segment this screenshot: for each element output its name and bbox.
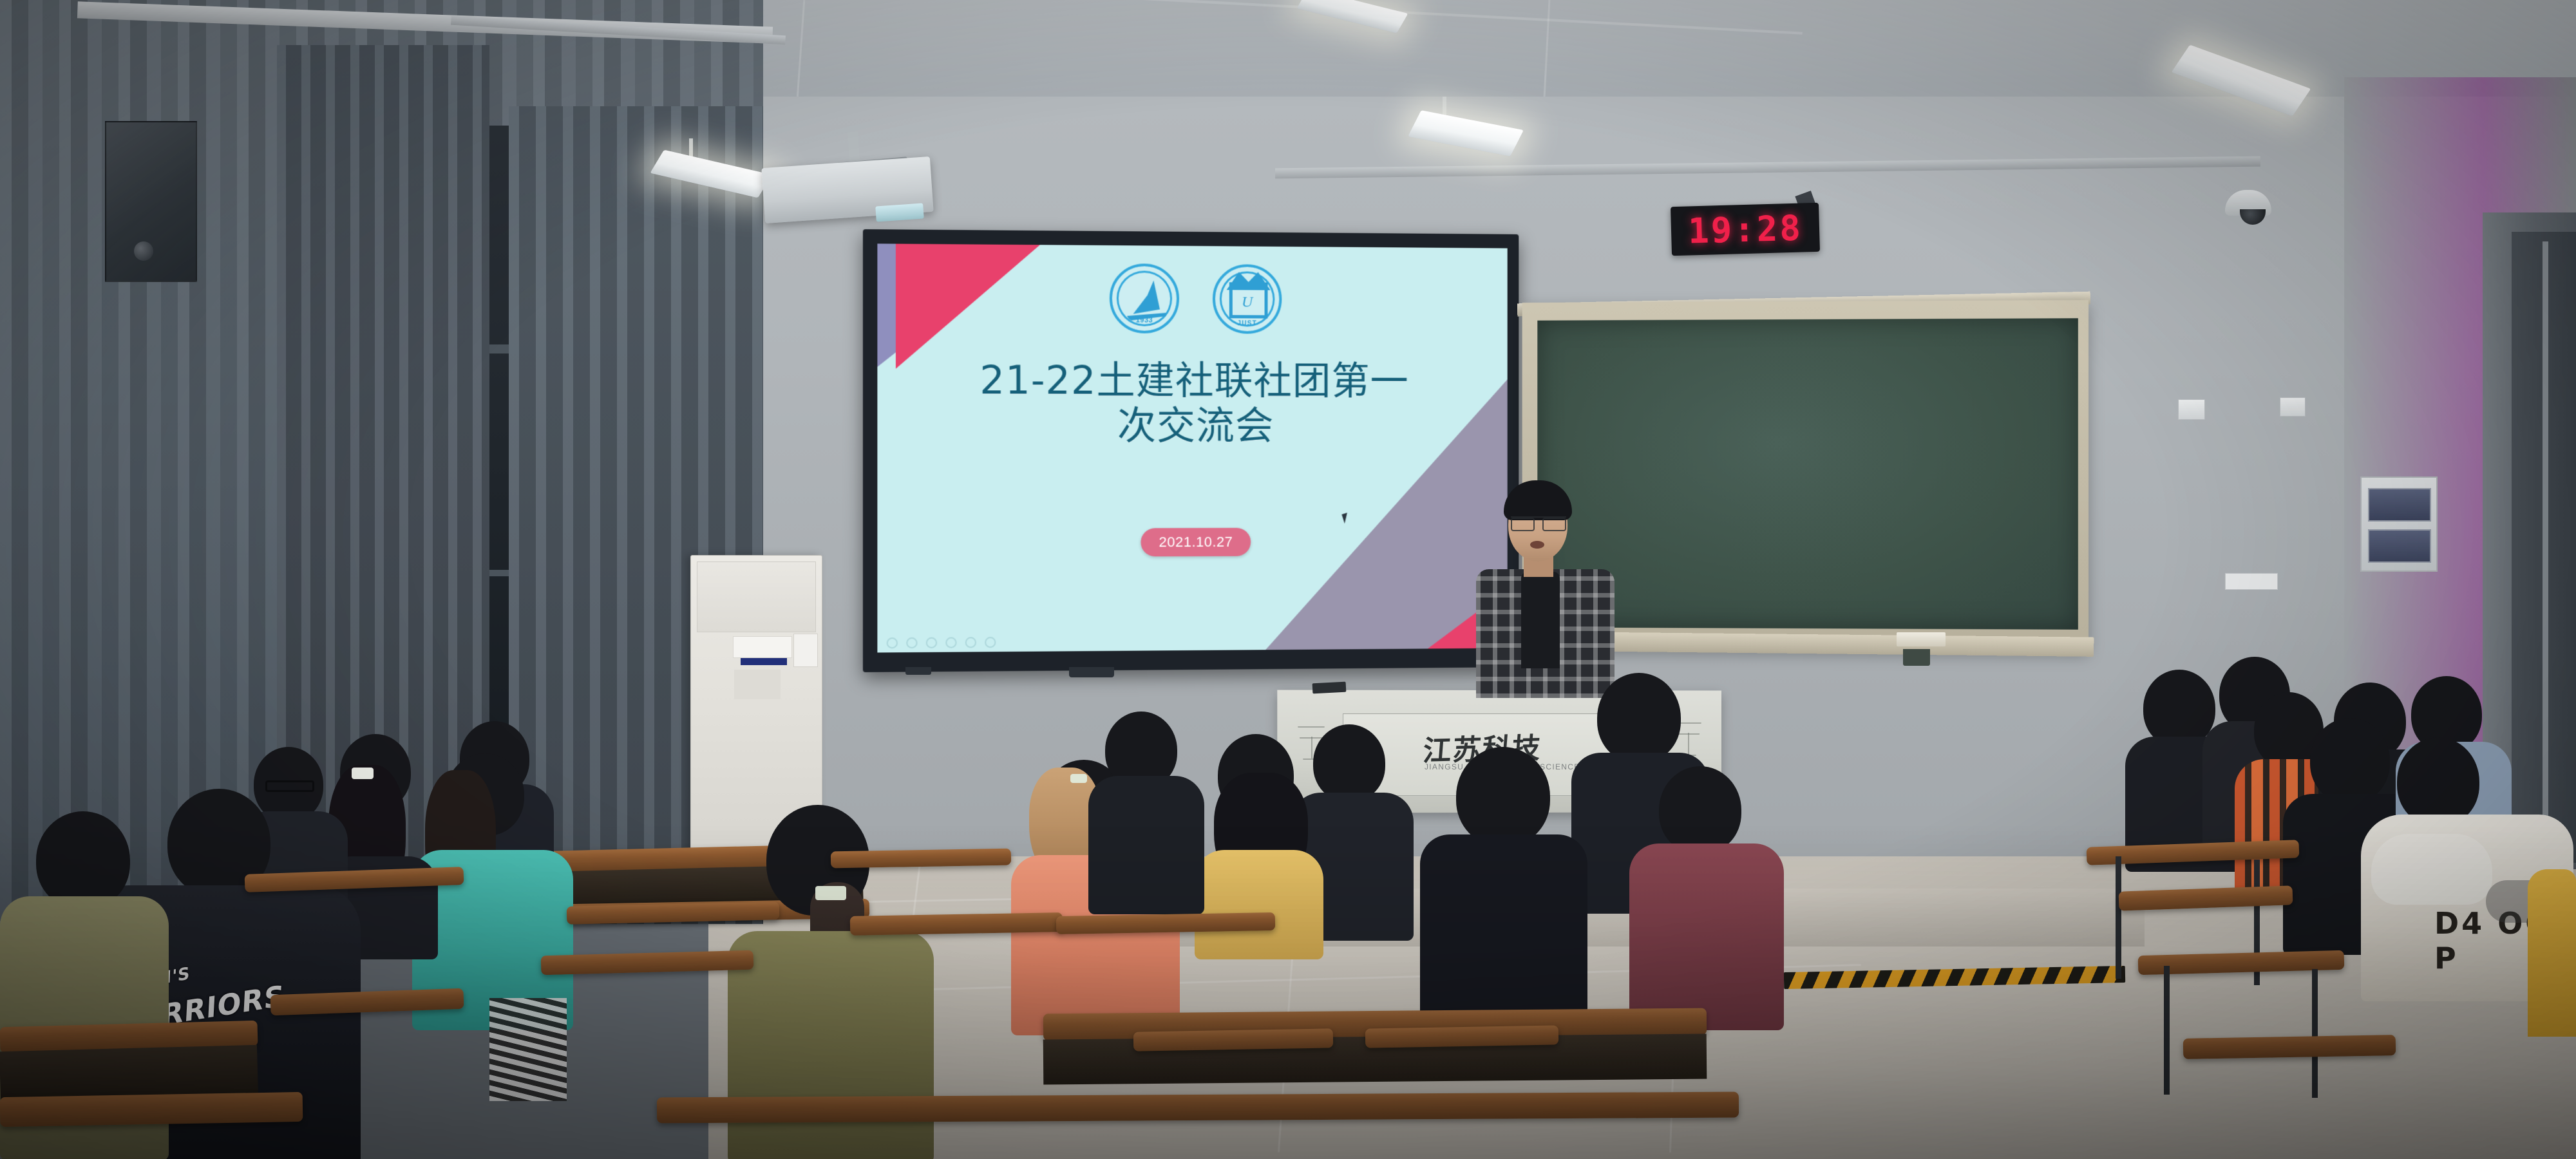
screen-mount-bracket — [1069, 667, 1114, 677]
presentation-controls[interactable] — [887, 637, 996, 648]
clock-time-display: 19:28 — [1687, 207, 1803, 251]
presenter-tshirt — [1521, 572, 1560, 668]
blackboard-clip — [1903, 649, 1930, 666]
wall-clock: 19:28 — [1671, 203, 1820, 256]
desk-seatback — [1133, 1028, 1333, 1051]
presenter-hair — [1504, 480, 1572, 520]
wall-speaker-icon — [105, 121, 197, 282]
light-switch[interactable] — [2280, 397, 2306, 417]
slide-surface: 1933 U ·JUST· 21-22土建社联社团第一 次交流会 2021.10… — [877, 243, 1507, 652]
slide-date-badge: 2021.10.27 — [1141, 528, 1251, 557]
more-options-icon[interactable] — [985, 637, 996, 648]
glasses-icon — [1511, 516, 1566, 527]
panel-slot-upper — [2368, 488, 2431, 522]
desk-center-mid — [850, 912, 1063, 936]
air-conditioner-badge — [741, 658, 787, 665]
presenter-mouth — [1530, 541, 1544, 549]
projection-screen[interactable]: 1933 U ·JUST· 21-22土建社联社团第一 次交流会 2021.10… — [863, 229, 1519, 672]
emblem-year: 1933 — [1112, 316, 1177, 324]
student-mid-maroon — [1629, 766, 1784, 1024]
air-conditioner-label — [733, 636, 792, 658]
menu-icon[interactable] — [945, 637, 956, 648]
blackboard-eraser[interactable] — [1897, 632, 1946, 646]
student-center-darkglasses — [1088, 711, 1204, 905]
emblem-abbr: ·JUST· — [1215, 320, 1279, 327]
college-emblem-icon: U ·JUST· — [1213, 264, 1282, 334]
podium-remote[interactable] — [1312, 682, 1347, 694]
student-right-yellow-bag — [2528, 869, 2576, 1037]
desk-center-mid2 — [1056, 912, 1275, 934]
air-conditioner-grille — [697, 561, 816, 632]
mouse-cursor-icon — [1341, 512, 1353, 524]
zoom-icon[interactable] — [965, 637, 976, 648]
emblem-letter: U — [1215, 294, 1279, 311]
desk-center-back — [831, 849, 1011, 869]
wall-notice-label — [2225, 573, 2278, 590]
projector-lens-icon — [875, 203, 923, 221]
student-left-teal-skirt — [489, 998, 567, 1101]
speaker-cone-icon — [134, 241, 153, 261]
presentation-slide: 1933 U ·JUST· 21-22土建社联社团第一 次交流会 2021.10… — [877, 243, 1507, 652]
pen-icon[interactable] — [926, 637, 937, 648]
panel-slot-lower — [2368, 529, 2431, 563]
prev-slide-icon[interactable] — [887, 637, 898, 648]
slide-title: 21-22土建社联社团第一 次交流会 — [917, 359, 1470, 449]
slide-title-line-1: 21-22土建社联社团第一 — [917, 359, 1470, 405]
air-conditioner-display — [734, 670, 781, 699]
student-mid-black-big — [1420, 747, 1587, 1017]
air-conditioner-energy-label — [793, 634, 818, 667]
electrical-panel[interactable] — [2360, 476, 2438, 572]
classroom-photo-scene: 1933 U ·JUST· 21-22土建社联社团第一 次交流会 2021.10… — [0, 0, 2576, 1159]
slide-logo-row: 1933 U ·JUST· — [877, 262, 1507, 335]
slide-title-line-2: 次交流会 — [917, 404, 1470, 449]
presenter — [1468, 476, 1629, 695]
light-switch[interactable] — [2178, 399, 2205, 420]
sail-icon — [1132, 280, 1160, 314]
screen-mount-bracket — [905, 667, 931, 675]
desk-seatback — [1365, 1025, 1558, 1048]
university-emblem-icon: 1933 — [1110, 263, 1179, 334]
next-slide-icon[interactable] — [906, 637, 917, 648]
desk-right-4 — [2183, 1035, 2396, 1059]
desk-left-foreground — [0, 1092, 303, 1127]
